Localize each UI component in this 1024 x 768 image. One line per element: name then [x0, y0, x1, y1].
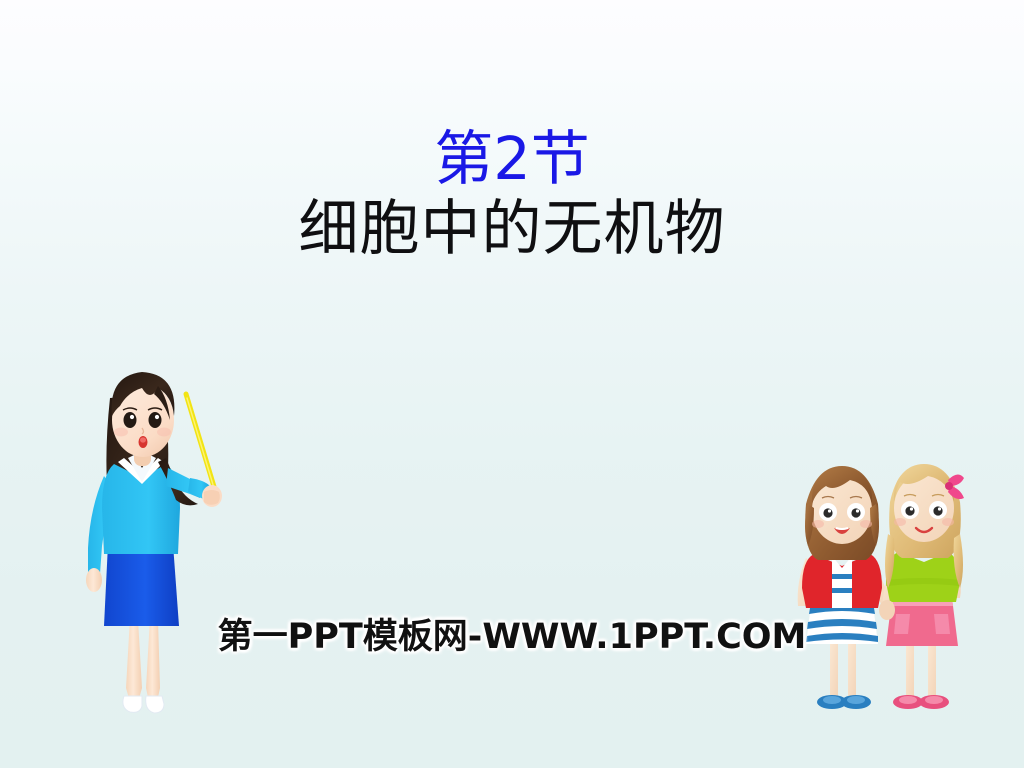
presentation-slide: 第2节 细胞中的无机物 第一PPT模板网-WWW.1PPT.COM [0, 0, 1024, 768]
students-illustration [788, 448, 984, 740]
teacher-hand [202, 485, 222, 507]
section-number-title: 第2节 [0, 128, 1024, 190]
page-title: 细胞中的无机物 [0, 196, 1024, 263]
teacher-illustration [58, 358, 248, 740]
slide-title-block: 第2节 细胞中的无机物 [0, 128, 1024, 263]
right-girl-top [886, 552, 960, 602]
site-watermark: 第一PPT模板网-WWW.1PPT.COM [0, 608, 1024, 659]
student-left [798, 466, 892, 709]
student-right [882, 464, 964, 709]
teacher-shoes [123, 696, 164, 713]
